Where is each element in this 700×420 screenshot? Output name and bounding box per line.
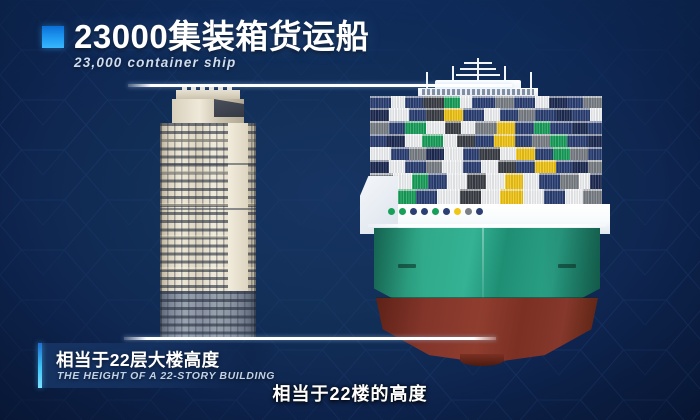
container-box <box>389 121 405 134</box>
container-row <box>370 173 602 189</box>
blue-square-marker-icon <box>42 26 64 48</box>
high-rise-building-graphic <box>152 90 264 340</box>
container-box <box>370 108 389 121</box>
container-box <box>442 160 463 173</box>
video-subtitle: 相当于22楼的高度 <box>0 380 700 406</box>
caption-text-cn: 相当于22层大楼高度 <box>56 347 219 372</box>
container-box <box>481 189 500 204</box>
container-box <box>472 96 495 108</box>
container-box <box>463 147 479 160</box>
container-row <box>370 108 602 121</box>
building-base-window-grid <box>160 291 256 340</box>
container-box <box>423 96 444 108</box>
container-box <box>560 173 579 189</box>
container-box <box>515 134 531 147</box>
container-box <box>386 134 405 147</box>
container-box <box>447 173 468 189</box>
deck-light <box>399 208 406 215</box>
ship-bulbous-bow <box>460 354 504 366</box>
title-row: 23000集装箱货运船 <box>42 20 369 53</box>
ship-deck-light-row <box>388 208 598 215</box>
container-box <box>500 108 519 121</box>
container-box <box>544 189 565 204</box>
container-box <box>514 96 535 108</box>
container-box <box>550 134 566 147</box>
container-row <box>370 160 602 173</box>
container-box <box>475 134 494 147</box>
container-box <box>495 96 514 108</box>
container-box <box>550 121 571 134</box>
container-box <box>590 108 602 121</box>
container-ship-graphic <box>360 58 612 348</box>
container-box <box>370 134 386 147</box>
ship-hull-marking <box>398 264 416 268</box>
ship-antenna-spar <box>464 62 492 64</box>
container-box <box>443 134 457 147</box>
container-box <box>463 160 482 173</box>
container-box <box>405 96 424 108</box>
container-box <box>572 108 591 121</box>
ship-deck-rail <box>368 224 606 227</box>
container-box <box>588 134 602 147</box>
container-box <box>498 160 517 173</box>
container-box <box>405 121 426 134</box>
ship-antenna-spar <box>460 68 496 70</box>
container-box <box>412 173 428 189</box>
container-box <box>518 108 534 121</box>
container-box <box>486 173 505 189</box>
container-box <box>444 108 463 121</box>
container-box <box>444 96 460 108</box>
container-box <box>426 160 442 173</box>
container-box <box>516 147 535 160</box>
container-box <box>570 147 589 160</box>
container-box <box>479 147 500 160</box>
container-box <box>500 189 523 204</box>
ship-bridge-windows <box>422 89 534 95</box>
container-box <box>572 160 588 173</box>
ship-hull-marking <box>558 264 576 268</box>
container-row <box>370 147 602 160</box>
ship-antenna-spar <box>456 74 500 76</box>
container-box <box>460 96 472 108</box>
page-title: 23000集装箱货运船 <box>74 20 369 53</box>
container-box <box>579 173 591 189</box>
container-row <box>370 134 602 147</box>
container-box <box>405 160 426 173</box>
container-box <box>572 121 588 134</box>
building-floor-seam <box>160 208 256 210</box>
container-box <box>539 173 560 189</box>
deck-light <box>443 208 450 215</box>
container-box <box>534 121 550 134</box>
deck-light <box>388 208 395 215</box>
height-reference-line-bottom <box>124 337 496 340</box>
container-box <box>583 189 602 204</box>
container-box <box>457 134 476 147</box>
building-left-edge <box>160 123 162 340</box>
container-box <box>426 147 445 160</box>
container-box <box>428 173 447 189</box>
container-box <box>460 189 481 204</box>
container-box <box>422 134 443 147</box>
container-box <box>409 108 425 121</box>
container-box <box>370 147 391 160</box>
container-box <box>583 96 602 108</box>
container-box <box>391 96 405 108</box>
container-box <box>391 147 410 160</box>
container-row <box>370 189 602 204</box>
container-box <box>516 160 535 173</box>
deck-light <box>476 208 483 215</box>
container-box <box>484 108 500 121</box>
container-box <box>535 147 554 160</box>
deck-light <box>421 208 428 215</box>
container-box <box>567 134 588 147</box>
container-box <box>505 173 524 189</box>
container-box <box>553 147 569 160</box>
container-box <box>426 108 445 121</box>
container-box <box>588 121 602 134</box>
container-box <box>535 160 556 173</box>
container-box <box>556 160 572 173</box>
container-box <box>567 96 583 108</box>
container-box <box>370 160 389 173</box>
container-row <box>370 96 602 108</box>
container-box <box>556 108 572 121</box>
container-box <box>445 121 461 134</box>
container-box <box>565 189 584 204</box>
container-box <box>444 147 463 160</box>
building-vertical-panel <box>228 123 248 291</box>
building-floor-seam <box>160 163 256 165</box>
title-block: 23000集装箱货运船 23,000 container ship <box>42 20 369 70</box>
container-box <box>515 121 534 134</box>
container-stack <box>370 96 602 204</box>
container-row <box>370 121 602 134</box>
deck-light <box>432 208 439 215</box>
container-box <box>549 96 568 108</box>
container-box <box>467 173 486 189</box>
container-box <box>409 147 425 160</box>
building-right-edge <box>254 123 256 340</box>
page-subtitle-en: 23,000 container ship <box>74 55 369 70</box>
container-box <box>497 121 516 134</box>
deck-light <box>465 208 472 215</box>
container-box <box>370 121 389 134</box>
container-box <box>405 134 421 147</box>
container-box <box>389 160 405 173</box>
container-box <box>398 189 417 204</box>
container-box <box>461 121 475 134</box>
container-box <box>535 108 556 121</box>
container-box <box>523 173 539 189</box>
container-box <box>590 173 602 189</box>
deck-light <box>454 208 461 215</box>
container-box <box>523 189 544 204</box>
container-box <box>437 189 460 204</box>
height-reference-line-top <box>128 84 512 87</box>
container-box <box>370 96 391 108</box>
container-box <box>588 147 602 160</box>
container-box <box>588 160 602 173</box>
container-box <box>532 134 551 147</box>
deck-light <box>410 208 417 215</box>
building-shadowed-base <box>160 291 256 340</box>
container-box <box>481 160 497 173</box>
video-frame: 23000集装箱货运船 23,000 container ship <box>0 0 700 420</box>
container-box <box>389 108 410 121</box>
container-box <box>475 121 496 134</box>
container-box <box>500 147 516 160</box>
container-box <box>463 108 484 121</box>
container-box <box>426 121 445 134</box>
container-box <box>494 134 515 147</box>
container-box <box>416 189 437 204</box>
container-box <box>535 96 549 108</box>
